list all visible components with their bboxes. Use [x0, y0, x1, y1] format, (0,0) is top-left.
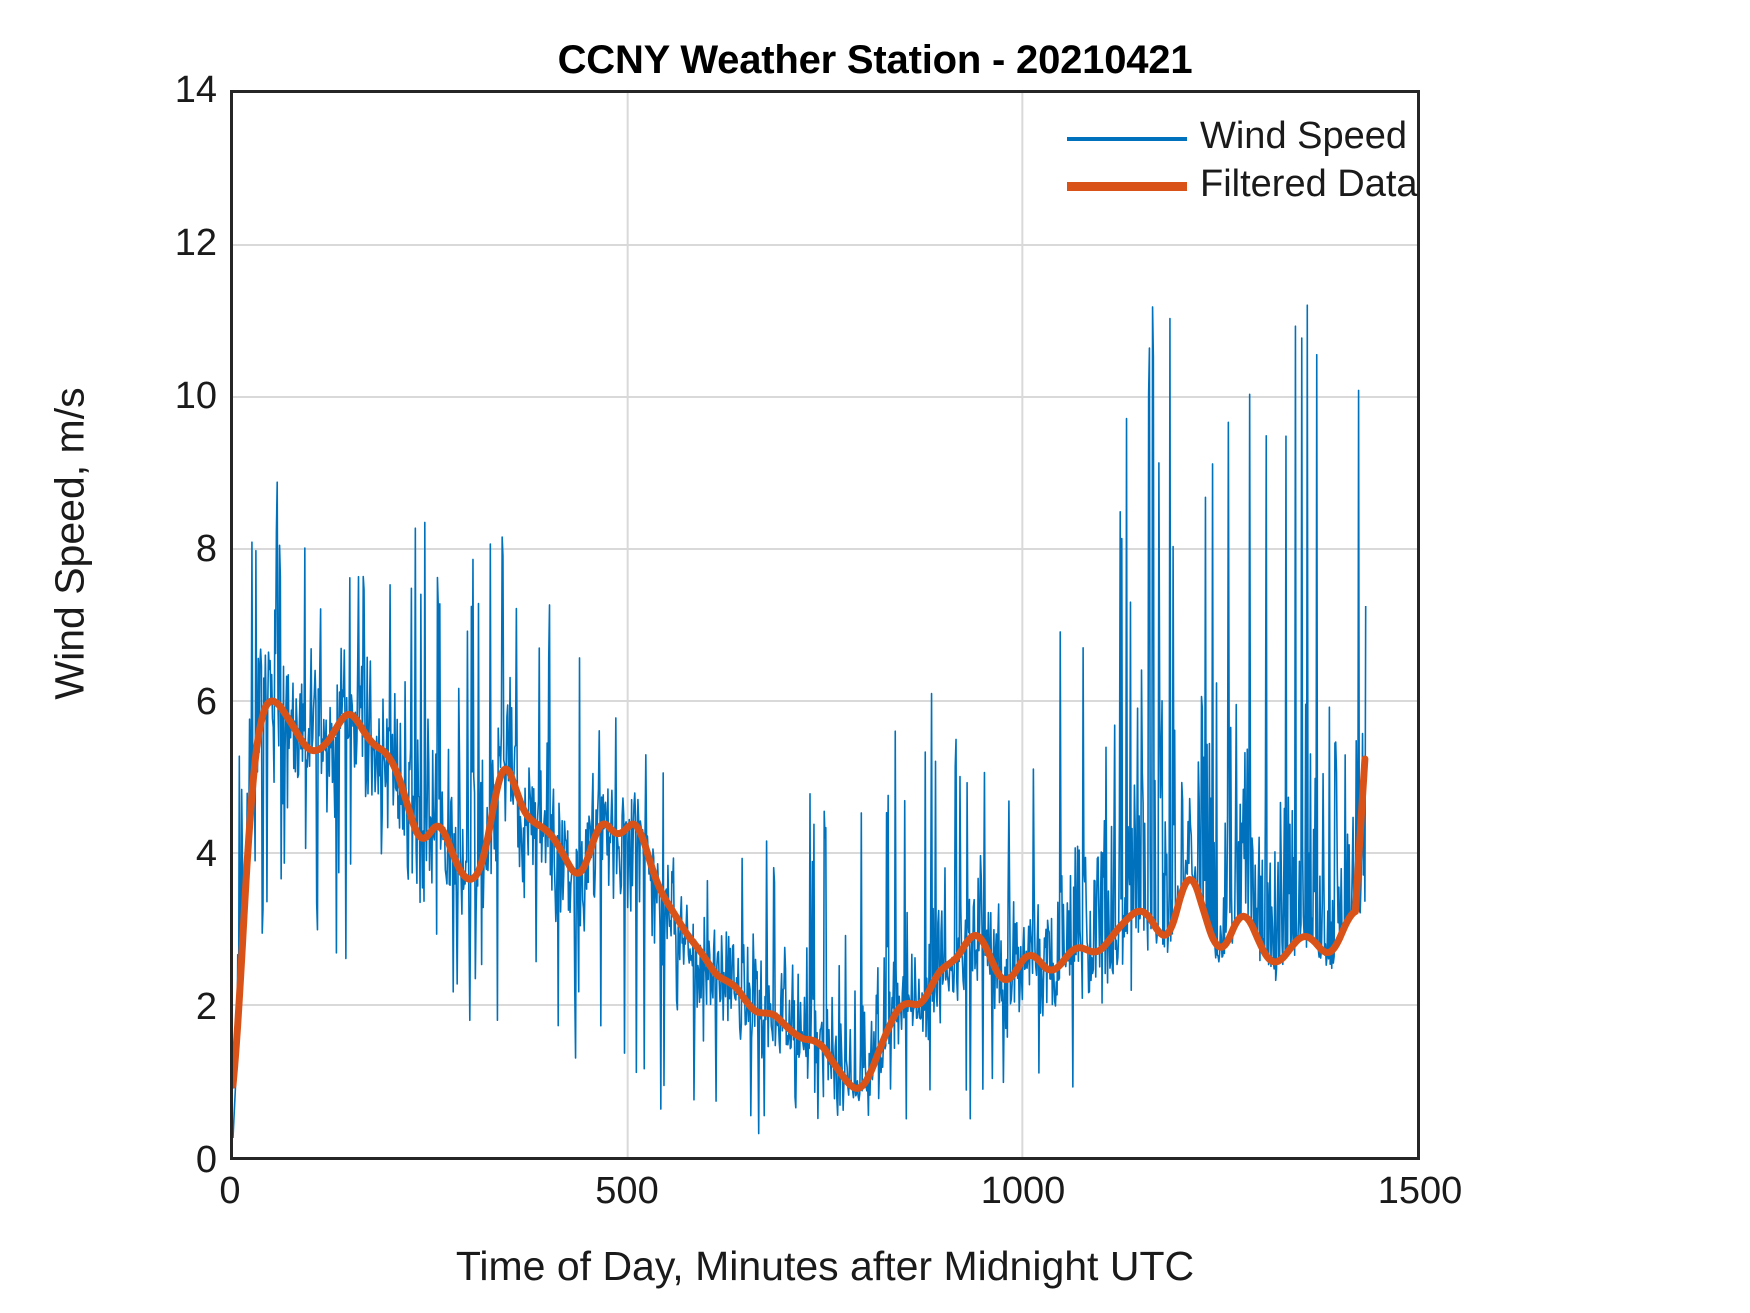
y-tick-label: 4 — [97, 835, 217, 873]
series-wind-speed — [233, 305, 1366, 1138]
legend-line-icon — [1067, 182, 1187, 191]
page-title: CCNY Weather Station - 20210421 — [0, 38, 1750, 83]
x-tick-label: 500 — [537, 1172, 717, 1210]
legend-label: Filtered Data — [1200, 163, 1418, 206]
y-tick-label: 2 — [97, 988, 217, 1026]
legend-line-icon — [1067, 137, 1187, 141]
legend-item-filtered-data[interactable]: Filtered Data — [1055, 165, 1400, 211]
y-tick-label: 12 — [97, 224, 217, 262]
legend-label: Wind Speed — [1200, 115, 1407, 158]
x-tick-label: 0 — [140, 1172, 320, 1210]
y-tick-label: 14 — [97, 71, 217, 109]
chart-legend: Wind Speed Filtered Data — [1055, 112, 1400, 212]
plot-canvas — [233, 93, 1417, 1157]
plot-area — [230, 90, 1420, 1160]
y-tick-label: 10 — [97, 377, 217, 415]
y-tick-label: 6 — [97, 683, 217, 721]
y-axis-label: Wind Speed, m/s — [47, 144, 94, 944]
y-tick-label: 8 — [97, 530, 217, 568]
chart-figure: CCNY Weather Station - 20210421 14 12 10… — [0, 0, 1750, 1313]
x-tick-label: 1500 — [1330, 1172, 1510, 1210]
x-axis-label: Time of Day, Minutes after Midnight UTC — [230, 1243, 1420, 1290]
legend-item-wind-speed[interactable]: Wind Speed — [1055, 117, 1400, 163]
x-tick-label: 1000 — [933, 1172, 1113, 1210]
